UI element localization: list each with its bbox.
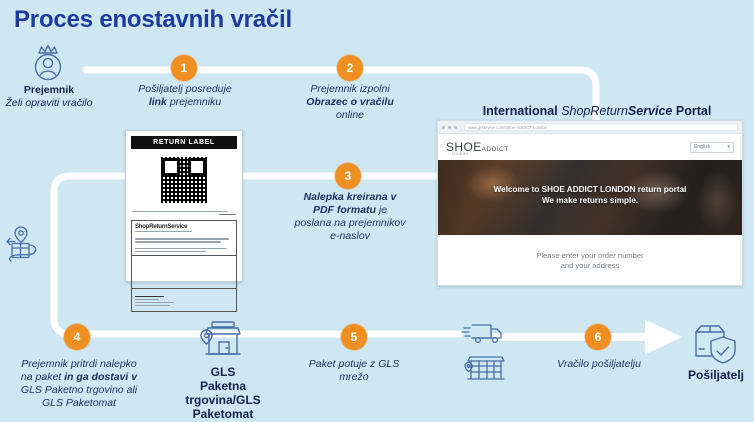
window-maximize-dot[interactable] [454,126,457,129]
return-label-footer [135,292,233,306]
step-2-badge[interactable]: 2 [337,55,363,81]
step-5-caption: Paket potuje z GLS mrežo [293,358,415,384]
return-label-document: RETURN LABEL ShopReturnService [125,130,243,282]
page-title: Proces enostavnih vračil [14,6,292,34]
qr-code-icon [161,157,207,203]
site-body: Please enter your order number and your … [438,235,742,286]
hero-text: Welcome to SHOE ADDICT LONDON return por… [438,184,742,206]
package-return-route-icon [4,222,52,268]
step-1-caption: Pošiljatelj posreduje link prejemniku [120,83,250,109]
depot-warehouse-icon [461,352,507,382]
return-label-banner: RETURN LABEL [131,136,237,149]
step-4-badge[interactable]: 4 [64,324,90,350]
delivery-truck-icon [461,320,507,346]
language-selector[interactable]: English ▾ [690,142,734,153]
step-2-caption: Prejemnik izpolni Obrazec o vračilu onli… [285,83,415,122]
node-parcelshop-label: GLS Paketna trgovina/GLS Paketomat [180,365,266,421]
step-5-badge[interactable]: 5 [341,324,367,350]
chevron-down-icon: ▾ [727,144,730,150]
node-sender-label: Pošiljatelj [683,368,749,382]
node-recipient-label: Prejemnik Želi opraviti vračilo [4,84,94,110]
return-label-meta [131,207,237,220]
parcel-shop-icon [198,320,248,362]
order-instruction-text: Please enter your order number and your … [536,251,643,271]
step-6-badge[interactable]: 6 [585,324,611,350]
infographic-canvas: Proces enostavnih vračil Prejemnik Želi … [0,0,754,422]
site-logo-tagline: LONDON [452,152,468,156]
package-shield-icon [690,322,740,366]
step-3-badge[interactable]: 3 [335,163,361,189]
return-label-address-box: ShopReturnService [131,220,237,312]
return-label-qr-area [131,149,237,207]
step-6-caption: Vračilo pošiljatelju [531,358,667,371]
site-header: SHOEADDICT English ▾ [438,134,742,160]
browser-chrome: www.grservice.com/Shoe-ADDICT-London [438,121,742,134]
step-4-caption: Prejemnik pritrdi nalepko na paket in ga… [4,358,154,410]
return-label-company: ShopReturnService [135,224,233,230]
person-crown-icon [24,42,72,86]
window-minimize-dot[interactable] [448,126,451,129]
window-close-dot[interactable] [442,126,445,129]
site-hero-banner: Welcome to SHOE ADDICT LONDON return por… [438,160,742,235]
browser-window-mockup: www.grservice.com/Shoe-ADDICT-London SHO… [437,120,743,286]
step-3-caption: Nalepka kreirana v PDF formatu je poslan… [277,191,423,243]
address-bar[interactable]: www.grservice.com/Shoe-ADDICT-London [464,123,738,131]
step-1-badge[interactable]: 1 [171,55,197,81]
portal-heading: International ShopReturnService Portal [452,104,742,118]
